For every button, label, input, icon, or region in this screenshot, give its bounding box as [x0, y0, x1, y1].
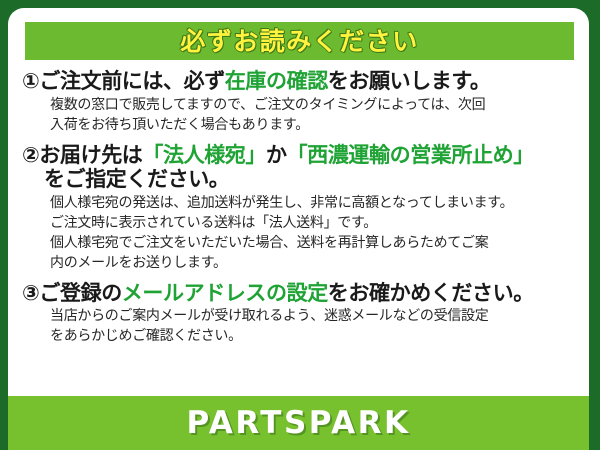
notice-item-1-heading: ①ご注文前には、必ず在庫の確認をお願いします。: [22, 69, 579, 94]
notice-header-title: 必ずお読みください: [180, 29, 419, 54]
notice-item-2-marker: ②: [22, 143, 39, 167]
notice-item-2-detail-line-3: 個人様宅宛でご注文をいただいた場合、送料を再計算しあらためてご案: [50, 234, 579, 254]
notice-header-bar: 必ずお読みください: [25, 22, 574, 60]
notice-item-1-heading-highlight: 在庫の確認: [225, 69, 328, 93]
notice-item-1-heading-part-3: をお願いします。: [328, 69, 491, 93]
notice-item-3-detail: 当店からのご案内メールが受け取れるよう、迷惑メールなどの受信設定 をあらかじめご…: [22, 305, 579, 347]
notice-item-2-heading-part-3: か: [266, 143, 287, 167]
notice-body: ①ご注文前には、必ず在庫の確認をお願いします。 複数の窓口で販売してますので、ご…: [8, 60, 589, 396]
notice-item-3-detail-line-1: 当店からのご案内メールが受け取れるよう、迷惑メールなどの受信設定: [50, 307, 579, 327]
notice-item-2-heading-continued: をご指定ください。: [22, 167, 579, 192]
notice-item-2-detail-line-1: 個人様宅宛の発送は、追加送料が発生し、非常に高額となってしまいます。: [50, 194, 579, 214]
notice-item-1-detail-line-1: 複数の窓口で販売してますので、ご注文のタイミングによっては、次回: [50, 96, 579, 116]
notice-item-1-detail: 複数の窓口で販売してますので、ご注文のタイミングによっては、次回 入荷をお待ち頂…: [22, 94, 579, 136]
notice-item-2-detail-line-2: ご注文時に表示されている送料は「法人送料」です。: [50, 214, 579, 234]
notice-item-2-detail: 個人様宅宛の発送は、追加送料が発生し、非常に高額となってしまいます。 ご注文時に…: [22, 192, 579, 274]
notice-item-3-marker: ③: [22, 281, 39, 305]
notice-item-3-heading-part-1: ご登録の: [39, 281, 121, 305]
notice-item-2-heading-highlight-2: 「西濃運輸の営業所止め」: [287, 143, 534, 167]
brand-wordmark: PARTSPARK: [186, 408, 410, 439]
notice-item-1-heading-part-1: ご注文前には、必ず: [39, 69, 224, 93]
notice-outer-frame: 必ずお読みください ①ご注文前には、必ず在庫の確認をお願いします。 複数の窓口で…: [0, 0, 600, 450]
notice-item-3-heading-part-3: をお確かめください。: [328, 281, 534, 305]
notice-item-2: ②お届け先は「法人様宛」か「西濃運輸の営業所止め」 をご指定ください。 個人様宅…: [22, 143, 579, 274]
notice-panel: 必ずお読みください ①ご注文前には、必ず在庫の確認をお願いします。 複数の窓口で…: [8, 8, 589, 450]
notice-item-2-detail-line-4: 内のメールをお送りします。: [50, 254, 579, 274]
notice-item-2-heading-part-1: お届け先は: [39, 143, 142, 167]
notice-item-3-heading: ③ご登録のメールアドレスの設定をお確かめください。: [22, 281, 579, 306]
notice-item-3-heading-highlight: メールアドレスの設定: [122, 281, 328, 305]
notice-item-3-detail-line-2: をあらかじめご確認ください。: [50, 327, 579, 347]
notice-item-1-marker: ①: [22, 69, 39, 93]
notice-item-1: ①ご注文前には、必ず在庫の確認をお願いします。 複数の窓口で販売してますので、ご…: [22, 69, 579, 136]
notice-footer-bar: PARTSPARK: [8, 396, 589, 450]
notice-item-2-heading: ②お届け先は「法人様宛」か「西濃運輸の営業所止め」: [22, 143, 579, 168]
notice-item-2-heading-highlight-1: 「法人様宛」: [142, 143, 266, 167]
notice-item-1-detail-line-2: 入荷をお待ち頂いただく場合もあります。: [50, 116, 579, 136]
notice-item-3: ③ご登録のメールアドレスの設定をお確かめください。 当店からのご案内メールが受け…: [22, 281, 579, 348]
